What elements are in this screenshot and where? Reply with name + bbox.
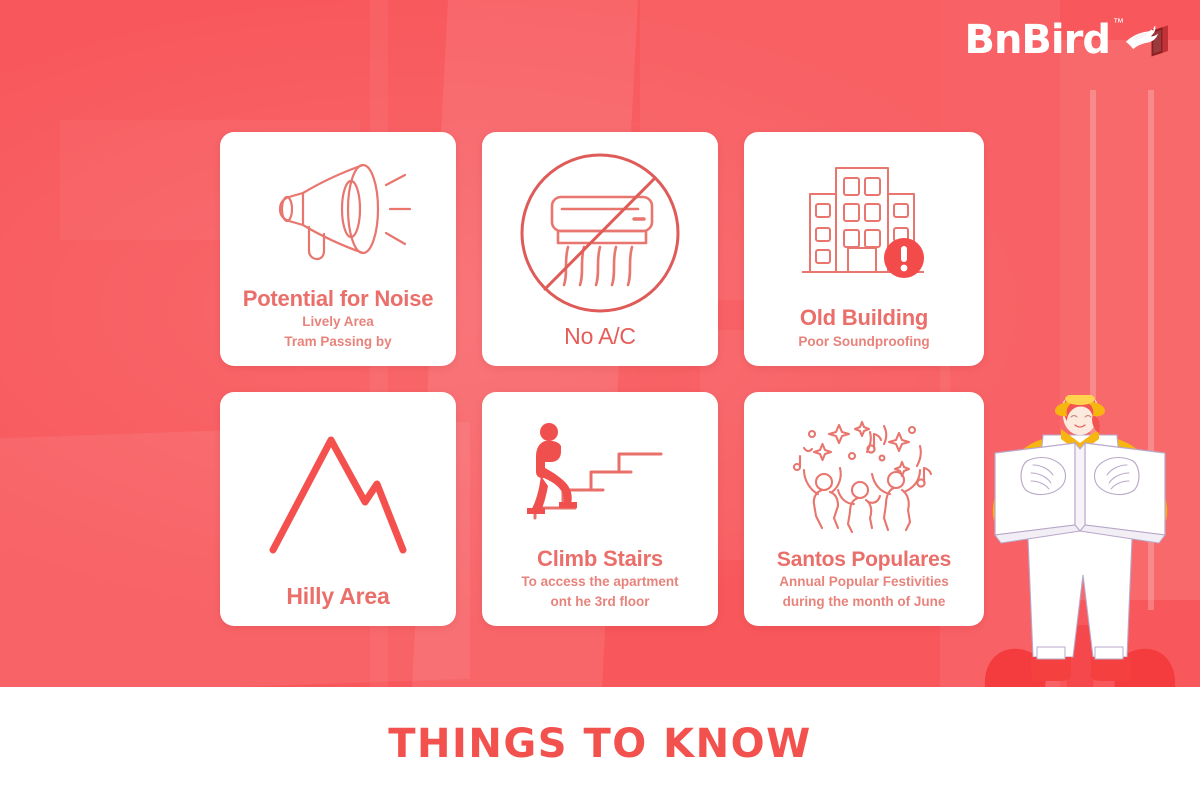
- brand-name-text: BnBird: [964, 17, 1110, 63]
- card-icon-wrap: [754, 142, 974, 306]
- card-title: Hilly Area: [230, 584, 446, 610]
- card-climb-stairs[interactable]: Climb Stairs To access the apartment ont…: [482, 392, 718, 626]
- brand-name: BnBird™: [964, 20, 1110, 60]
- card-text: Hilly Area: [230, 584, 446, 614]
- card-text: Climb Stairs To access the apartment ont…: [492, 547, 708, 614]
- card-title: Potential for Noise: [230, 287, 446, 312]
- card-no-ac[interactable]: No A/C: [482, 132, 718, 366]
- card-title: Santos Populares: [754, 548, 974, 572]
- card-subtitle-line-1: Annual Popular Festivities: [754, 573, 974, 590]
- card-text: No A/C: [492, 324, 708, 354]
- footer-title: THINGS TO KNOW: [388, 721, 812, 767]
- card-title: No A/C: [492, 324, 708, 350]
- infographic-poster: BnBird™: [0, 0, 1200, 800]
- card-text: Potential for Noise Lively Area Tram Pas…: [230, 287, 446, 354]
- card-icon-wrap: [754, 402, 974, 548]
- card-subtitle-line-1: Poor Soundproofing: [754, 333, 974, 350]
- card-hilly-area[interactable]: Hilly Area: [220, 392, 456, 626]
- card-text: Santos Populares Annual Popular Festivit…: [754, 548, 974, 614]
- dancing-people-celebration-icon: [784, 416, 944, 534]
- card-subtitle-line-2: during the month of June: [754, 593, 974, 610]
- no-air-conditioning-icon: [510, 149, 690, 317]
- footer-bar: THINGS TO KNOW: [0, 687, 1200, 800]
- cards-grid: Potential for Noise Lively Area Tram Pas…: [220, 132, 986, 626]
- trademark-symbol: ™: [1113, 18, 1123, 29]
- card-icon-wrap: [230, 142, 446, 287]
- person-reading-book-illustration: [975, 395, 1185, 687]
- card-icon-wrap: [492, 402, 708, 547]
- card-potential-for-noise[interactable]: Potential for Noise Lively Area Tram Pas…: [220, 132, 456, 366]
- card-subtitle-line-1: Lively Area: [230, 313, 446, 330]
- card-text: Old Building Poor Soundproofing: [754, 306, 974, 354]
- bird-book-icon: [1120, 18, 1172, 62]
- card-old-building[interactable]: Old Building Poor Soundproofing: [744, 132, 984, 366]
- card-icon-wrap: [230, 402, 446, 584]
- brand-logo[interactable]: BnBird™: [964, 18, 1172, 62]
- person-climbing-stairs-icon: [515, 418, 685, 530]
- card-subtitle-line-2: Tram Passing by: [230, 333, 446, 350]
- megaphone-icon: [263, 159, 413, 269]
- card-icon-wrap: [492, 142, 708, 324]
- old-building-warning-icon: [794, 160, 934, 288]
- card-title: Old Building: [754, 306, 974, 331]
- mountain-icon: [253, 428, 423, 558]
- card-santos-populares[interactable]: Santos Populares Annual Popular Festivit…: [744, 392, 984, 626]
- card-title: Climb Stairs: [492, 547, 708, 572]
- card-subtitle-line-1: To access the apartment: [492, 573, 708, 590]
- card-subtitle-line-2: ont he 3rd floor: [492, 593, 708, 610]
